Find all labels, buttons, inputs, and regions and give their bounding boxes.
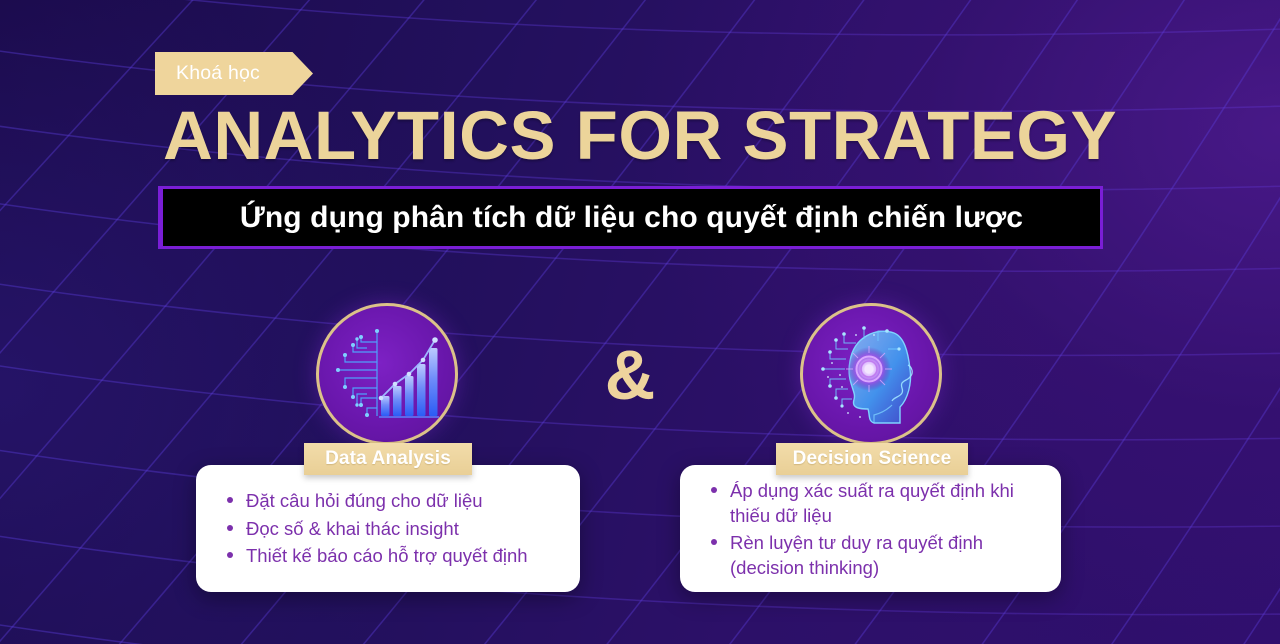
tab-decision-science[interactable]: Decision Science: [776, 443, 968, 475]
list-item: Đặt câu hỏi đúng cho dữ liệu: [224, 488, 560, 514]
data-analytics-chart-icon: [316, 303, 458, 445]
tab-data-analysis[interactable]: Data Analysis: [304, 443, 472, 475]
ampersand-separator: &: [597, 340, 663, 410]
list-item: Áp dụng xác suất ra quyết định khi thiếu…: [708, 478, 1041, 528]
card-decision-science: Áp dụng xác suất ra quyết định khi thiếu…: [680, 465, 1061, 592]
course-tag-label: Khoá học: [176, 64, 260, 84]
list-item: Thiết kế báo cáo hỗ trợ quyết định: [224, 543, 560, 569]
subtitle-text: Ứng dụng phân tích dữ liệu cho quyết địn…: [240, 201, 1023, 235]
page-title: ANALYTICS FOR STRATEGY: [163, 101, 1123, 171]
card-data-analysis: Đặt câu hỏi đúng cho dữ liệu Đọc số & kh…: [196, 465, 580, 592]
ai-head-brain-icon: [800, 303, 942, 445]
tab-data-analysis-label: Data Analysis: [325, 448, 451, 470]
tab-decision-science-label: Decision Science: [793, 448, 952, 470]
list-item: Đọc số & khai thác insight: [224, 516, 560, 542]
poster-canvas: Khoá học ANALYTICS FOR STRATEGY Ứng dụng…: [0, 0, 1280, 644]
subtitle-bar: Ứng dụng phân tích dữ liệu cho quyết địn…: [158, 186, 1103, 249]
list-item: Rèn luyện tư duy ra quyết định (decision…: [708, 530, 1041, 580]
course-tag-banner: Khoá học: [155, 52, 313, 95]
bullet-list-data-analysis: Đặt câu hỏi đúng cho dữ liệu Đọc số & kh…: [224, 488, 560, 571]
bullet-list-decision-science: Áp dụng xác suất ra quyết định khi thiếu…: [708, 478, 1041, 581]
